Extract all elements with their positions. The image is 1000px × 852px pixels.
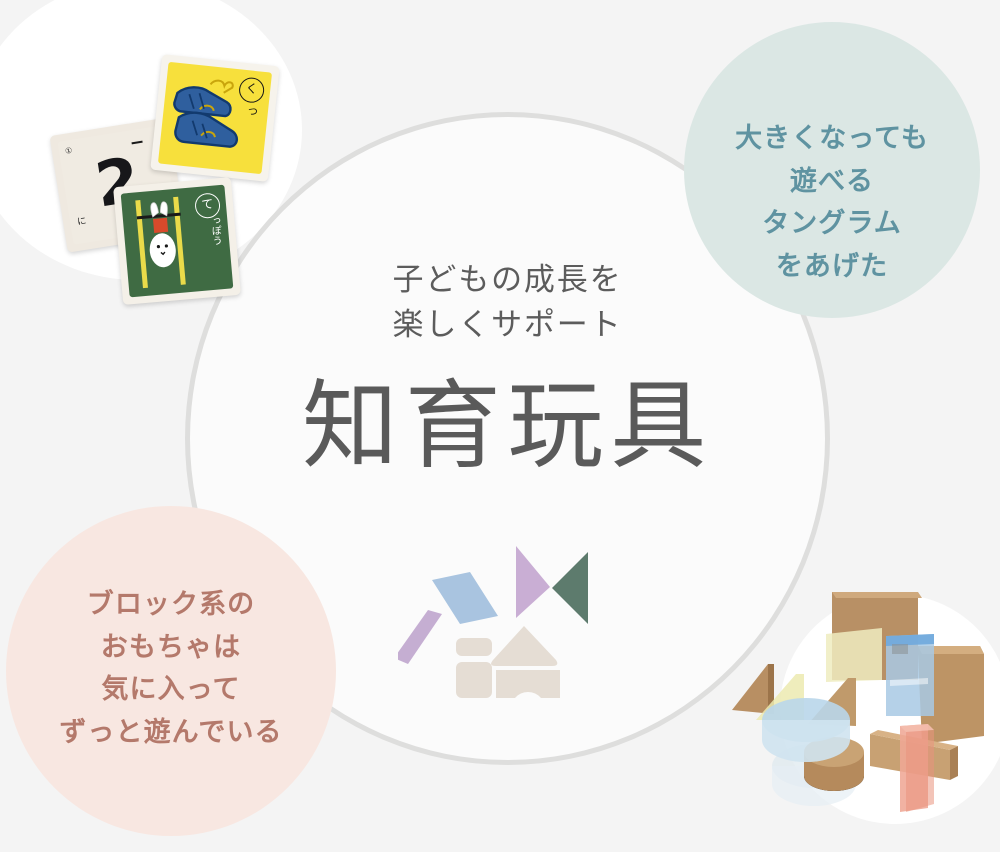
- beige-small-bar-shape: [456, 638, 492, 656]
- headline-block: 子どもの成長を 楽しくサポート 知育玩具: [185, 258, 830, 479]
- tangram-illustration: [398, 528, 618, 708]
- beige-square-shape: [456, 662, 492, 698]
- card-dot-icon: ①: [64, 146, 72, 156]
- beige-triangle-roof-shape: [491, 626, 557, 666]
- acrylic-pink-bar-shape: [900, 724, 934, 812]
- headline-subtitle: 子どもの成長を 楽しくサポート: [185, 258, 830, 348]
- page-title: 知育玩具: [185, 374, 830, 480]
- hero-banner: 大きくなっても 遊べる タングラム をあげた ブロック系の おもちゃは 気に入っ…: [0, 0, 1000, 852]
- beige-arch-block-shape: [496, 670, 560, 698]
- number-card-kana: に: [76, 214, 87, 228]
- blue-parallelogram-shape: [432, 572, 498, 624]
- building-blocks-photo: [722, 568, 1000, 852]
- bubble-pink: ブロック系の おもちゃは 気に入って ずっと遊んでいる: [6, 506, 336, 836]
- bar-card-kana-tail: っぽう: [207, 215, 221, 246]
- wooden-wedge-shape: [732, 664, 774, 714]
- green-triangle-shape: [552, 552, 588, 624]
- acrylic-blue-slab-shape: [886, 634, 934, 716]
- tangram-svg: [398, 528, 618, 708]
- shoes-card-kana-tail: つ: [247, 102, 259, 118]
- purple-parallelogram-shape: [398, 610, 442, 664]
- bubble-pink-text: ブロック系の おもちゃは 気に入って ずっと遊んでいる: [6, 584, 336, 755]
- purple-triangle-shape: [516, 546, 550, 618]
- shoes-card: く つ: [150, 54, 279, 182]
- picture-cards-photo: ① 2 に ©Mercis bv: [28, 42, 288, 292]
- acrylic-blue-disc-shape: [762, 698, 850, 762]
- building-blocks-svg: [722, 568, 1000, 852]
